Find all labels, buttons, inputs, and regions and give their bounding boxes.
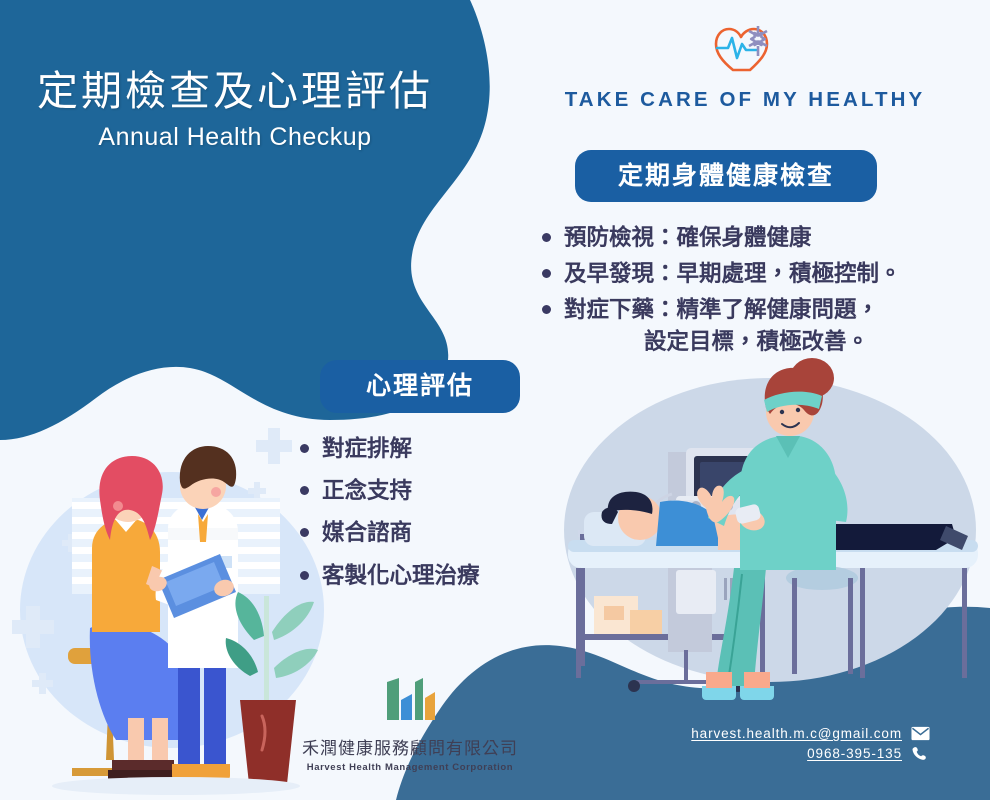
- badge-body-checkup: 定期身體健康檢查: [575, 150, 877, 202]
- counseling-illustration: [52, 446, 318, 795]
- brand-block: TAKE CARE OF MY HEALTHY: [530, 22, 960, 112]
- mental-item-text: 媒合諮商: [322, 520, 412, 545]
- ultrasound-machine: [628, 448, 766, 692]
- ultrasound-examination-illustration: [568, 358, 978, 700]
- right-scene-backdrop: [564, 378, 976, 682]
- list-item: 對症排解: [296, 432, 556, 466]
- envelope-icon: [911, 726, 930, 741]
- checkup-item-text: 及早發現：早期處理，積極控制。: [564, 261, 902, 286]
- heart-pulse-star-of-life-icon: [714, 22, 776, 74]
- list-item: 及早發現：早期處理，積極控制。: [538, 258, 968, 290]
- list-item: 預防檢視：確保身體健康: [538, 222, 968, 254]
- plus-icon-5: [32, 673, 53, 694]
- list-item: 媒合諮商: [296, 516, 556, 550]
- clipboard: [158, 554, 236, 618]
- checkup-item-second-line: 設定目標，積極改善。: [564, 326, 968, 358]
- mental-item-text: 正念支持: [322, 478, 412, 503]
- contact-phone-row[interactable]: 0968-395-135: [640, 746, 930, 761]
- window-blinds: [72, 498, 280, 594]
- plus-icon-3: [248, 482, 266, 500]
- checkup-item-text: 預防檢視：確保身體健康: [564, 225, 812, 250]
- badge-mental-assessment: 心理評估: [320, 360, 520, 413]
- list-item: 客製化心理治療: [296, 559, 556, 593]
- contact-email-row[interactable]: harvest.health.m.c@gmail.com: [640, 726, 930, 741]
- company-name-cn: 禾潤健康服務顧問有限公司: [300, 734, 520, 759]
- contact-phone[interactable]: 0968-395-135: [807, 746, 902, 761]
- supply-shelf: [578, 530, 748, 666]
- patient-woman: [90, 456, 195, 784]
- brand-tagline: TAKE CARE OF MY HEALTHY: [530, 88, 960, 112]
- footer-logo-block: 禾潤健康服務顧問有限公司 Harvest Health Management C…: [300, 676, 520, 773]
- harvest-health-hh-monogram-icon: [377, 676, 443, 726]
- left-scene-backdrop: [20, 472, 324, 748]
- plus-icon-1: [256, 428, 292, 464]
- contact-block: harvest.health.m.c@gmail.com 0968-395-13…: [640, 726, 930, 766]
- list-item: 正念支持: [296, 474, 556, 508]
- doctor: [147, 446, 238, 780]
- stool: [68, 648, 160, 776]
- nurse: [697, 358, 847, 700]
- company-name-en: Harvest Health Management Corporation: [300, 762, 520, 773]
- title-block: 定期檢查及心理評估 Annual Health Checkup: [0, 68, 470, 152]
- contact-email[interactable]: harvest.health.m.c@gmail.com: [691, 726, 902, 741]
- patient-lying: [584, 492, 968, 550]
- mental-item-text: 客製化心理治療: [322, 563, 480, 588]
- phone-icon: [911, 746, 930, 761]
- mental-item-text: 對症排解: [322, 436, 412, 461]
- exam-table: [568, 540, 978, 678]
- page-subtitle: Annual Health Checkup: [0, 123, 470, 152]
- poster-canvas: 定期檢查及心理評估 Annual Health Checkup TAKE CAR…: [0, 0, 990, 800]
- checkup-bullet-list: 預防檢視：確保身體健康 及早發現：早期處理，積極控制。 對症下藥：精準了解健康問…: [538, 222, 968, 362]
- checkup-item-text: 對症下藥：精準了解健康問題，: [564, 297, 879, 322]
- plus-icon-4: [62, 534, 80, 552]
- nurse-stool: [786, 566, 858, 674]
- mental-bullet-list: 對症排解 正念支持 媒合諮商 客製化心理治療: [296, 432, 556, 601]
- list-item: 對症下藥：精準了解健康問題， 設定目標，積極改善。: [538, 294, 968, 358]
- plus-icon-2: [12, 606, 54, 648]
- plus-icon-6: [258, 538, 276, 556]
- page-title: 定期檢查及心理評估: [0, 68, 470, 115]
- plus-decorations: [12, 428, 292, 694]
